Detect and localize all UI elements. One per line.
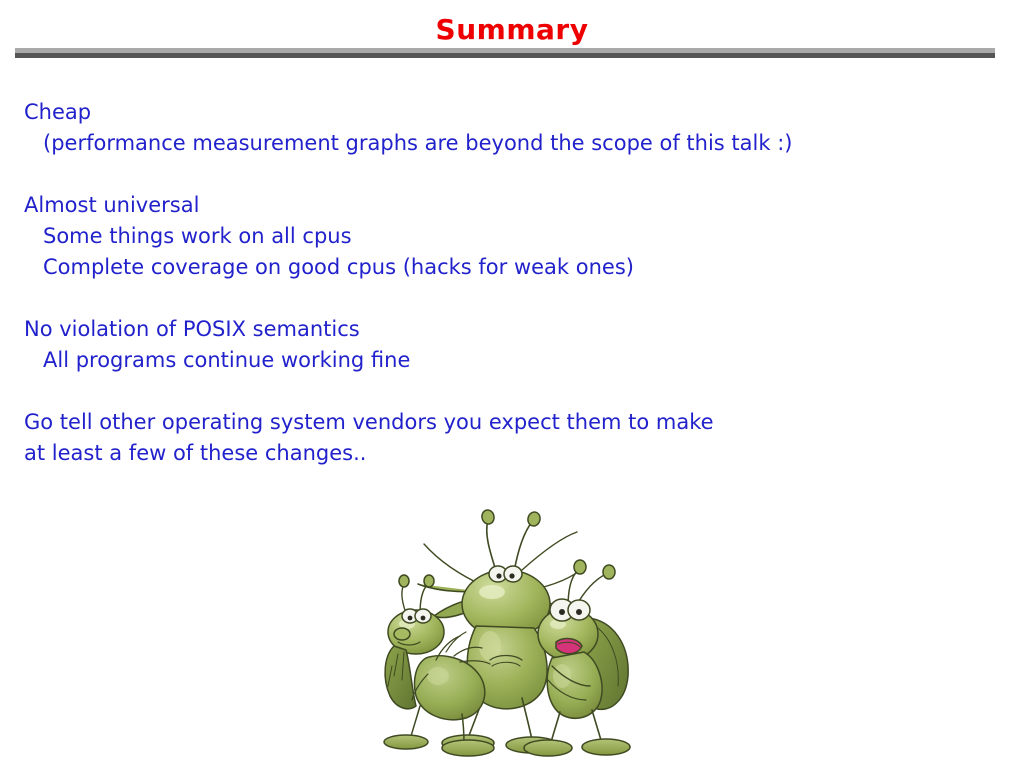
block-line: Some things work on all cpus [24,221,984,252]
title-divider-shadow [15,53,995,58]
block-heading: Go tell other operating system vendors y… [24,407,984,438]
title-divider [15,48,995,58]
text-block-almost-universal: Almost universal Some things work on all… [24,190,984,283]
block-heading: Almost universal [24,190,984,221]
three-cartoon-bugs-image [372,500,652,768]
text-block-cheap: Cheap (performance measurement graphs ar… [24,97,984,159]
page-title: Summary [0,14,1024,46]
block-line: (performance measurement graphs are beyo… [24,128,984,159]
block-line: All programs continue working fine [24,345,984,376]
block-line: at least a few of these changes.. [24,438,984,469]
block-heading: Cheap [24,97,984,128]
text-block-posix: No violation of POSIX semantics All prog… [24,314,984,376]
text-block-call-to-action: Go tell other operating system vendors y… [24,407,984,469]
slide-body: Cheap (performance measurement graphs ar… [24,97,984,500]
block-heading: No violation of POSIX semantics [24,314,984,345]
block-line: Complete coverage on good cpus (hacks fo… [24,252,984,283]
